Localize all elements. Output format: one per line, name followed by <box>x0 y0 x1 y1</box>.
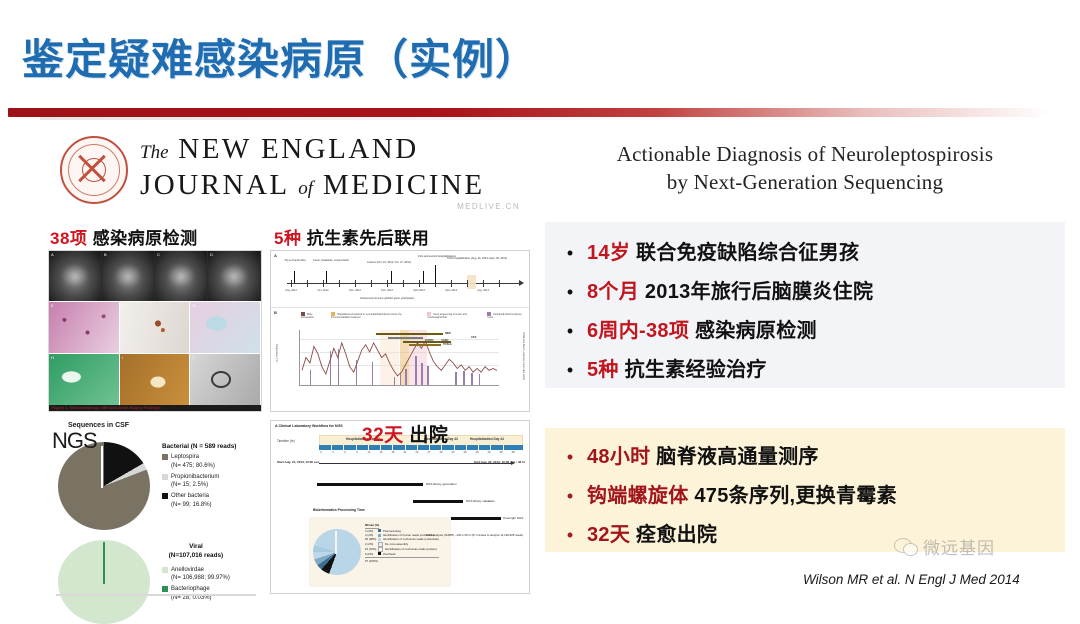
timeline-tick <box>339 280 340 287</box>
nejm-wordmark: The NEW ENGLAND JOURNAL of MEDICINE <box>140 132 485 203</box>
nejm-new-england: NEW ENGLAND <box>178 133 418 165</box>
headline-line-1: Actionable Diagnosis of Neuroleptospiros… <box>545 140 1065 168</box>
legend-name: Anellovirdae <box>171 567 204 573</box>
list-item-rest: 感染病原检测 <box>689 320 817 342</box>
legend-swatch-icon <box>378 534 381 537</box>
panel-antibiotic-timeline: A <box>270 250 530 412</box>
timeline-note-third-hosp: Third hospitalization (Aug. 26, 2013–Sep… <box>447 257 507 260</box>
drug-label-cipro: CIPRO <box>425 339 433 342</box>
legend-swatch-icon <box>162 474 168 480</box>
list-item: • 6周内-38项 感染病原检测 <box>553 314 1065 343</box>
mri-cell-c: C <box>155 251 208 301</box>
legend-name: Propionibacterium <box>171 474 219 480</box>
list-item-highlight: 8个月 <box>587 281 639 303</box>
histology-cell-g: G <box>190 301 261 353</box>
workflow-start-label: Start Aug. 21, 2013, 10:00 a.m. <box>277 461 320 465</box>
hour-label: 6 <box>344 451 345 454</box>
bioinformatics-legend: Minute (%) 4 (4%)Preprocessing 4 (4%)Ide… <box>365 523 439 563</box>
list-item: • 5种 抗生素经验治疗 <box>553 353 1065 382</box>
caption-antibiotics: 5种 抗生素先后联用 <box>274 224 429 249</box>
workflow-analysis-note: NGS analysis (SURPI) ~100 1.36 hr (97 mi… <box>426 533 523 537</box>
legend-coma: Hospitalized and placed in a pentobarbit… <box>331 312 420 319</box>
mri-label-c: C <box>157 252 160 257</box>
caption-pathogen-tests-text: 感染病原检测 <box>93 229 198 248</box>
title-divider-shadow <box>40 117 760 120</box>
legend-text: Other bacteria (N= 99; 16.8%) <box>171 492 212 509</box>
histology-row-2: H I J <box>49 353 261 405</box>
workflow-timeline-label: Timeline (hr) <box>277 439 295 443</box>
workflow-title: A Clinical Laboratory Workflow for NGS <box>275 424 343 428</box>
list-item-text: 8个月 2013年旅行后脑膜炎住院 <box>587 275 873 304</box>
bio-total-row: 97 (100%) <box>365 557 439 563</box>
timeline-highlight <box>467 275 476 289</box>
article-headline: Actionable Diagnosis of Neuroleptospiros… <box>545 140 1065 197</box>
bio-label: Overhead <box>383 552 395 556</box>
histology-row-1: E F G <box>49 301 261 353</box>
legend-name: Bacteriophage <box>171 586 210 592</box>
hour-tick <box>490 445 491 450</box>
hour-label: 30 <box>440 451 443 454</box>
timeline-panel-a: A <box>271 251 529 308</box>
histology-cell-h: H <box>49 353 120 405</box>
legend-sequencing-label: Deep sequencing of serum and cerebrospin… <box>427 313 466 319</box>
timeline-note-lesions: Lesions (Oct. 10, 2012; Oct. 27, 2012) <box>367 261 411 264</box>
nejm-journal: JOURNAL <box>140 169 289 201</box>
hour-tick <box>454 445 455 450</box>
legend-value: (N= 99; 16.8%) <box>171 502 212 508</box>
timeline-tick <box>387 280 388 287</box>
workflow-segment-label-2: NGS library validation <box>466 499 495 503</box>
bioinformatics-pie-divider <box>335 531 337 554</box>
list-item: • 8个月 2013年旅行后脑膜炎住院 <box>553 275 1065 304</box>
list-item-text: 5种 抗生素经验治疗 <box>587 353 767 382</box>
list-item: • 14岁 联合免疫缺陷综合征男孩 <box>553 236 1065 265</box>
workflow-segment-label-1: NGS library generation <box>426 482 457 486</box>
workflow-axis <box>319 463 511 464</box>
viral-legend-title: Viral <box>162 542 230 551</box>
list-item-text: 14岁 联合免疫缺陷综合征男孩 <box>587 236 859 265</box>
legend-leukocyte: Peripheral-blood leukocyte count <box>487 312 523 319</box>
timeline-marker <box>294 271 295 283</box>
histology-label-f: F <box>122 303 124 308</box>
legend-swatch-icon <box>162 493 168 499</box>
viral-pie-divider <box>103 542 105 584</box>
drug-bar-cipro <box>388 337 424 339</box>
panel-b-letter: B <box>274 310 277 315</box>
legend-swatch-icon <box>162 586 168 592</box>
hour-tick <box>503 445 504 450</box>
list-item-rest: 475条序列,更换青霉素 <box>689 485 897 507</box>
hour-label: 15 <box>380 451 383 454</box>
slide-header: 鉴定疑难感染病原（实例） <box>0 0 1080 118</box>
legend-sequencing: Deep sequencing of serum and cerebrospin… <box>427 312 479 319</box>
hour-label: 39 <box>476 451 479 454</box>
bacterial-pie-divider <box>101 446 103 488</box>
list-item-rest: 2013年旅行后脑膜炎住院 <box>639 281 873 303</box>
list-item-rest: 抗生素经验治疗 <box>619 359 767 381</box>
figure-column: The NEW ENGLAND JOURNAL of MEDICINE MEDL… <box>42 128 532 598</box>
histology-label-e: E <box>51 303 54 308</box>
list-item-highlight: 钩端螺旋体 <box>587 485 689 507</box>
timeline-tick <box>371 280 372 287</box>
list-item-rest: 痊愈出院 <box>630 524 717 546</box>
mri-row: A B C D <box>49 251 261 301</box>
legend-item: Other bacteria (N= 99; 16.8%) <box>162 492 236 509</box>
timeline-tick <box>483 280 484 287</box>
summary-column: Actionable Diagnosis of Neuroleptospiros… <box>545 140 1065 197</box>
ngs-outcome-list: • 48小时 脑脊液高通量测序 • 钩端螺旋体 475条序列,更换青霉素 • 3… <box>545 428 1065 547</box>
source-watermark: MEDLIVE.CN <box>457 202 520 211</box>
drug-label-cfx: CFX <box>471 336 476 339</box>
hour-label: 27 <box>428 451 431 454</box>
timeline-marker <box>423 271 424 283</box>
hour-label: 33 <box>452 451 455 454</box>
workflow-segment-library-validation <box>413 500 463 503</box>
mri-label-b: B <box>104 252 107 257</box>
legend-text: Leptospira (N= 475; 80.6%) <box>171 453 215 470</box>
legend-value: (N= 475; 80.6%) <box>171 463 215 469</box>
hour-label: 45 <box>500 451 503 454</box>
timeline-tick <box>403 280 404 287</box>
list-item-highlight: 14岁 <box>587 242 630 264</box>
legend-text: Anellovirdae (N= 106,988; 99.97%) <box>171 566 230 583</box>
bullet-icon: • <box>553 361 587 379</box>
list-item-highlight: 6周内-38项 <box>587 320 689 342</box>
timeline-tick <box>355 280 356 287</box>
bullet-icon: • <box>553 487 587 505</box>
nejm-line-1: The NEW ENGLAND <box>140 132 485 167</box>
case-history-box: • 14岁 联合免疫缺陷综合征男孩 • 8个月 2013年旅行后脑膜炎住院 • … <box>545 222 1065 388</box>
bacterial-pie-chart <box>58 442 150 530</box>
timeline-tick <box>451 280 452 287</box>
figure-caption: Figure 1. Neuroradiologic MRI and Brain … <box>52 405 161 410</box>
wechat-bubble-small <box>903 543 918 556</box>
case-history-list: • 14岁 联合免疫缺陷综合征男孩 • 8个月 2013年旅行后脑膜炎住院 • … <box>545 222 1065 382</box>
legend-swatch-icon <box>378 529 381 532</box>
bacterial-legend: Bacterial (N = 589 reads) Leptospira (N=… <box>162 442 236 509</box>
timeline-tick <box>291 280 292 287</box>
bullet-icon: • <box>553 283 587 301</box>
list-item-rest: 脑脊液高通量测序 <box>650 446 818 468</box>
legend-coma-label: Hospitalized and placed in a pentobarbit… <box>331 313 402 319</box>
list-item-text: 6周内-38项 感染病原检测 <box>587 314 817 343</box>
hour-label: 3 <box>332 451 333 454</box>
histology-label-i: I <box>122 355 123 360</box>
hour-label: 12 <box>368 451 371 454</box>
bullet-icon: • <box>553 244 587 262</box>
caption-discharge-text: 出院 <box>409 425 448 446</box>
histology-cell-e: E <box>49 301 120 353</box>
panel-a-letter: A <box>274 253 277 258</box>
drug-bar-pcn <box>409 344 441 346</box>
mri-cell-a: A <box>49 251 102 301</box>
viral-legend-subtitle: (N=107,016 reads) <box>162 551 230 560</box>
channel-watermark: 微远基因 <box>894 534 995 559</box>
drug-label-mep: MEP <box>445 332 451 335</box>
workflow-segment-library-generation <box>317 483 423 486</box>
hour-label: 24 <box>416 451 419 454</box>
histology-label-j: J <box>192 355 194 360</box>
timeline-note-ivig: Intravenous immune globulin given prophy… <box>360 297 414 300</box>
timeline-tick <box>419 280 420 287</box>
hour-tick <box>343 445 344 450</box>
list-item-text: 48小时 脑脊液高通量测序 <box>587 440 819 469</box>
drug-label-vanc: VANC <box>441 339 448 342</box>
caption-discharge-num: 32天 <box>362 425 404 446</box>
mri-label-a: A <box>51 252 54 257</box>
timeline-month: Aug. 2012 <box>285 289 297 292</box>
headline-line-2: by Next-Generation Sequencing <box>545 168 1065 196</box>
hour-tick <box>356 445 357 450</box>
citation: Wilson MR et al. N Engl J Med 2014 <box>803 572 1020 587</box>
timeline-marker <box>326 271 327 283</box>
nejm-masthead: The NEW ENGLAND JOURNAL of MEDICINE MEDL… <box>42 128 532 216</box>
bio-value: 2 (2%) <box>365 542 378 546</box>
nejm-of: of <box>298 178 313 199</box>
timeline-month: Oct. 2012 <box>317 289 328 292</box>
watermark-text: 微远基因 <box>923 534 995 559</box>
timeline-tick <box>323 280 324 287</box>
figure-grid: 38项 感染病原检测 5种 抗生素先后联用 A B C D E F G <box>42 224 532 598</box>
timeline-note-trip: Trip to Puerto Rico <box>284 259 306 262</box>
hour-tick <box>466 445 467 450</box>
legend-item: Leptospira (N= 475; 80.6%) <box>162 453 236 470</box>
bio-legend-row: 6 (6%)Overhead <box>365 552 439 556</box>
bio-label: De novo assembly <box>385 542 408 546</box>
list-item-highlight: 5种 <box>587 359 619 381</box>
legend-swatch-icon <box>162 567 168 573</box>
caption-discharge: 32天 出院 <box>362 420 448 447</box>
nejm-medicine: MEDICINE <box>323 169 485 201</box>
timeline-month: Dec. 2012 <box>349 289 361 292</box>
list-item-text: 钩端螺旋体 475条序列,更换青霉素 <box>587 479 897 508</box>
drug-bar-mep <box>376 333 444 335</box>
temperature-plot-area: MEP CIPRO VANC CFX PCN-G <box>299 330 499 386</box>
timeline-month: June 2013 <box>445 289 457 292</box>
legend-name: Other bacteria <box>171 493 209 499</box>
bullet-icon: • <box>553 448 587 466</box>
temperature-panel-b: B Body temperature Hospitalized and plac… <box>271 308 529 408</box>
mri-cell-d: D <box>208 251 261 301</box>
caption-antibiotics-text: 抗生素先后联用 <box>307 229 430 248</box>
drug-label-pcn: PCN-G <box>443 343 451 346</box>
bio-value: 6 (6%) <box>365 552 378 556</box>
workflow-day-44: Hospitalization Day 44 <box>470 437 504 441</box>
histology-cell-i: I <box>120 353 191 405</box>
list-item-highlight: 32天 <box>587 524 630 546</box>
bullet-icon: • <box>553 526 587 544</box>
legend-item: Anellovirdae (N= 106,988; 99.97%) <box>162 566 230 583</box>
caption-pathogen-tests: 38项 感染病原检测 <box>50 224 198 249</box>
histology-cell-j: J <box>190 353 261 405</box>
workflow-segment-label-3: Overnight NGS <box>503 516 523 520</box>
page-title: 鉴定疑难感染病原（实例） <box>22 26 538 87</box>
panel-ngs-pies: Sequences in CSF NGS Bacterial (N = 589 … <box>44 420 268 592</box>
list-item: • 钩端螺旋体 475条序列,更换青霉素 <box>553 479 1065 508</box>
histology-label-h: H <box>51 355 54 360</box>
timeline-tick <box>307 280 308 287</box>
temperature-y-axis-label: Temperature (°C) <box>275 344 278 362</box>
legend-swatch-icon <box>378 538 381 541</box>
bioinformatics-title: Bioinformatics Processing Time <box>313 508 365 512</box>
temperature-legend: Body temperature Hospitalized and placed… <box>301 312 523 319</box>
slide-root: 鉴定疑难感染病原（实例） The NEW ENGLAND JOURNAL of … <box>0 0 1080 608</box>
list-item-rest: 联合免疫缺陷综合征男孩 <box>630 242 859 264</box>
legend-swatch-icon <box>378 552 381 555</box>
legend-value: (N= 15; 2.5%) <box>171 482 208 488</box>
timeline-tick <box>499 280 500 287</box>
wechat-icon <box>894 538 918 555</box>
caption-antibiotics-num: 5种 <box>274 229 301 248</box>
bio-value: 15 (16%) <box>365 547 378 551</box>
mri-cell-b: B <box>102 251 155 301</box>
bioinformatics-panel: Bioinformatics Processing Time Minute (%… <box>309 517 451 587</box>
hour-label: 42 <box>488 451 491 454</box>
list-item: • 48小时 脑脊液高通量测序 <box>553 440 1065 469</box>
legend-item: Propionibacterium (N= 15; 2.5%) <box>162 473 236 490</box>
leukocyte-y-axis-label: Peripheral-Blood Leukocyte Count (per mm… <box>522 332 525 380</box>
timeline-note-fever: Fever, headache, conjunctivitis <box>313 259 348 262</box>
hour-label: 36 <box>464 451 467 454</box>
timeline-marker <box>391 271 392 283</box>
nejm-seal-icon <box>60 136 128 204</box>
legend-value: (N= 106,988; 99.97%) <box>171 575 230 581</box>
workflow-title-text: Clinical Laboratory Workflow for NGS <box>278 424 342 428</box>
hour-tick <box>478 445 479 450</box>
histology-cell-f: F <box>120 301 191 353</box>
bioinformatics-pie-chart <box>313 529 361 575</box>
bio-label: Identification of nonhuman reads (protei… <box>385 547 437 551</box>
ngs-annotation: NGS <box>52 428 97 454</box>
bullet-icon: • <box>553 322 587 340</box>
title-divider <box>8 108 1052 117</box>
mri-label-d: D <box>210 252 213 257</box>
histology-label-g: G <box>192 303 195 308</box>
hour-label: 0 <box>320 451 321 454</box>
list-item-text: 32天 痊愈出院 <box>587 518 717 547</box>
legend-text: Propionibacterium (N= 15; 2.5%) <box>171 473 219 490</box>
legend-leukocyte-label: Peripheral-blood leukocyte count <box>487 313 521 319</box>
timeline-tick <box>467 280 468 287</box>
seal-ring-icon <box>82 158 106 182</box>
legend-body-temp: Body temperature <box>301 312 323 319</box>
hour-tick <box>331 445 332 450</box>
timeline-month: Feb. 2013 <box>381 289 393 292</box>
nejm-line-2: JOURNAL of MEDICINE <box>140 167 485 203</box>
pie-panel-divider <box>56 594 256 596</box>
hour-label: 48 <box>512 451 515 454</box>
timeline-month: Aug. 2013 <box>477 289 489 292</box>
legend-swatch-icon <box>162 454 168 460</box>
caption-pathogen-tests-num: 38项 <box>50 229 87 248</box>
hour-label: 21 <box>404 451 407 454</box>
timeline-marker <box>435 265 436 283</box>
hour-label: 9 <box>356 451 357 454</box>
list-item-highlight: 48小时 <box>587 446 650 468</box>
timeline-month: April 2013 <box>413 289 425 292</box>
panel-imaging-mosaic: A B C D E F G H I J Figure 1. Neuroradio… <box>48 250 262 412</box>
legend-name: Leptospira <box>171 454 199 460</box>
hour-label: 18 <box>392 451 395 454</box>
nejm-the: The <box>140 142 169 163</box>
bacterial-legend-title: Bacterial (N = 589 reads) <box>162 442 236 451</box>
